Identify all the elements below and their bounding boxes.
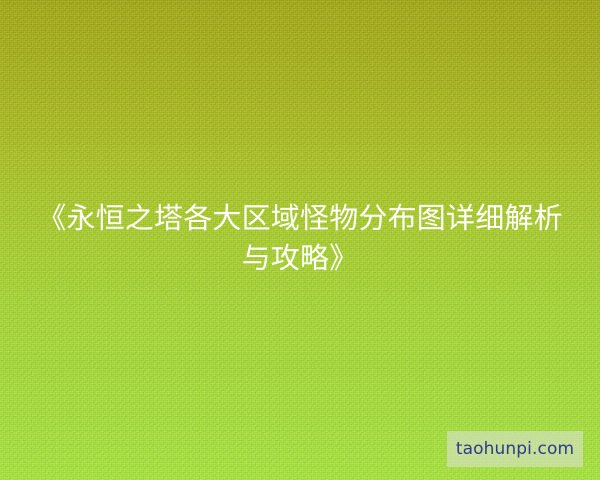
- page-title: 《永恒之塔各大区域怪物分布图详细解析 与攻略》: [0, 198, 600, 278]
- title-card: 《永恒之塔各大区域怪物分布图详细解析 与攻略》 taohunpi.com: [0, 0, 600, 480]
- watermark-label: taohunpi.com: [456, 441, 574, 458]
- title-line-2: 与攻略》: [26, 238, 574, 278]
- watermark-badge: taohunpi.com: [447, 431, 583, 467]
- title-line-1: 《永恒之塔各大区域怪物分布图详细解析: [26, 198, 574, 238]
